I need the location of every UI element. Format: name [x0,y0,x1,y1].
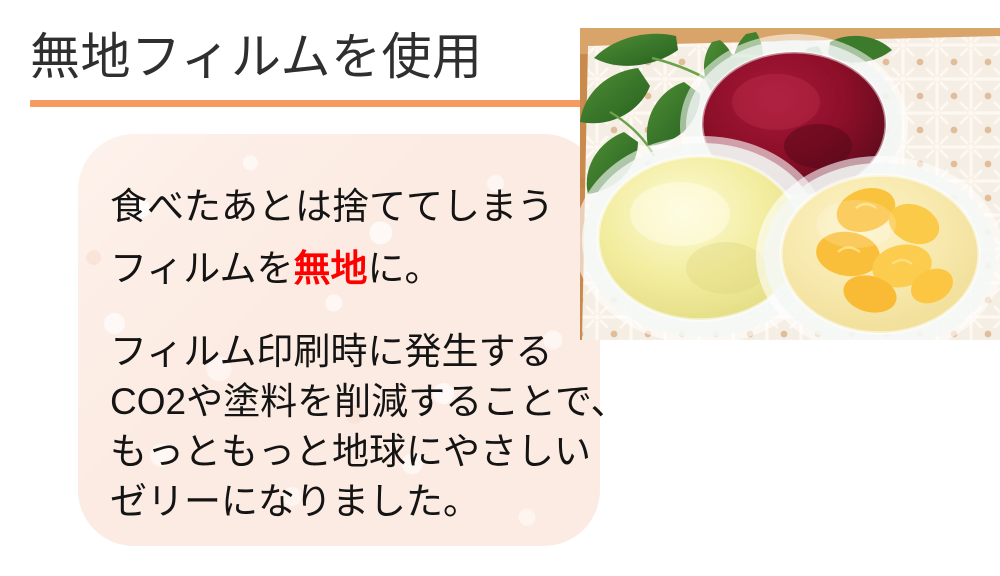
paragraph-2-line-3: もっともっと地球にやさしい [110,427,628,477]
paragraph-1-line-2-prefix: フィルムを [110,248,294,289]
page-title: 無地フィルムを使用 [30,26,483,88]
paragraph-1-line-2-suffix: に。 [368,248,442,289]
paragraph-2-line-2: CO2や塗料を削減することで、 [110,377,628,427]
title-accent-rule [30,100,584,107]
paragraph-2: フィルム印刷時に発生する CO2や塗料を削減することで、 もっともっと地球にやさ… [110,327,628,527]
jelly-cups-illustration [580,28,1000,340]
paragraph-2-line-4: ゼリーになりました。 [110,477,628,527]
jelly-cups-photo [580,28,1000,340]
paragraph-1-line-1: 食べたあとは捨ててしまう [110,176,554,238]
paragraph-1: 食べたあとは捨ててしまう フィルムを無地に。 [110,176,554,300]
highlighted-term-muji: 無地 [294,248,368,289]
paragraph-2-line-1: フィルム印刷時に発生する [110,327,628,377]
paragraph-1-line-2: フィルムを無地に。 [110,238,554,300]
